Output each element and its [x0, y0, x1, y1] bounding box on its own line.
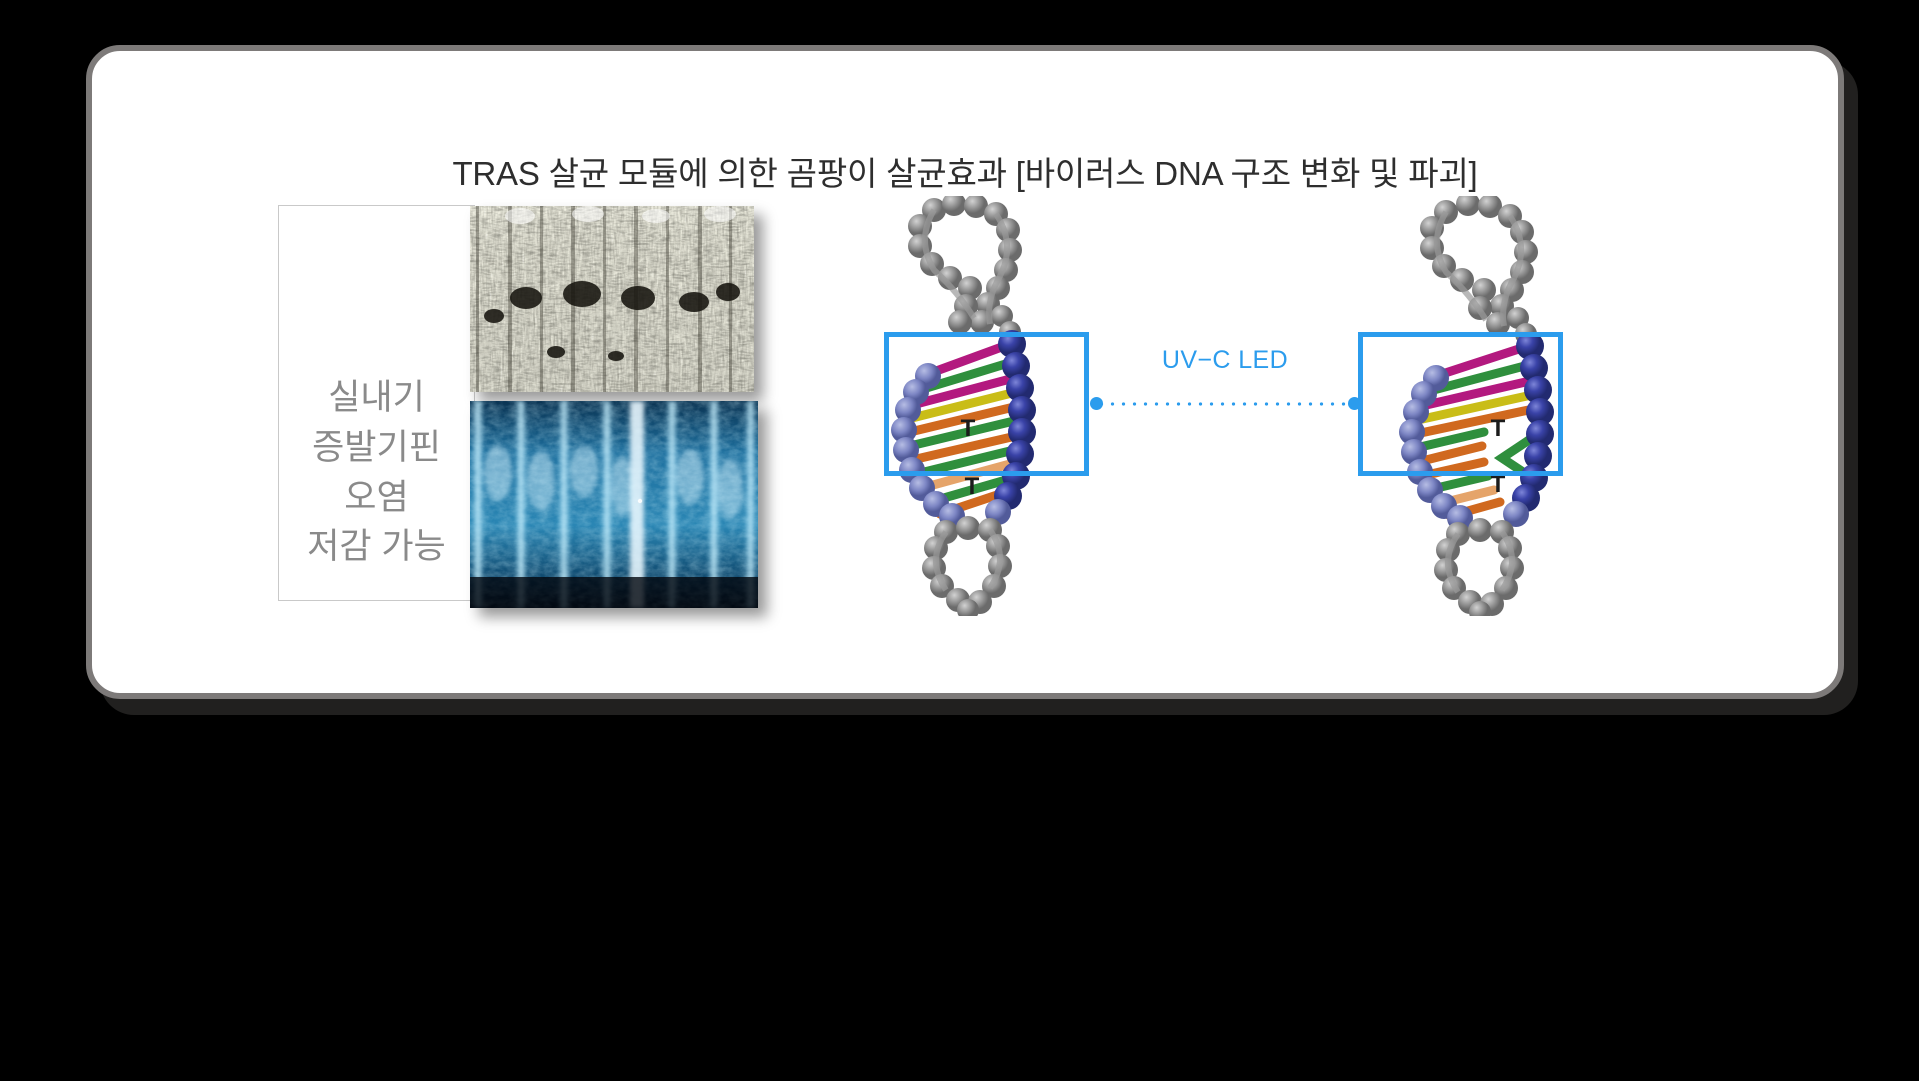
dna-normal: T T — [850, 196, 1090, 616]
uv-connector — [1090, 395, 1361, 413]
uv-connector-dot-right — [1348, 397, 1361, 410]
uv-treated-evaporator-fins-photo — [470, 401, 758, 608]
callout-box: 실내기 증발기핀 오염 저감 가능 — [278, 205, 475, 601]
callout-line-1: 실내기 — [328, 373, 425, 423]
uv-highlight-box-before — [884, 332, 1089, 476]
uv-connector-dotted-line — [1096, 402, 1355, 406]
callout-line-4: 저감 가능 — [307, 522, 446, 572]
dna-comparison-panel: T T — [792, 196, 1752, 616]
contaminated-evaporator-fins-photo — [470, 206, 754, 392]
mold-photo-graphic — [470, 206, 754, 392]
dna-backbone-bottom — [922, 516, 1012, 616]
dna-backbone-top — [908, 196, 1022, 343]
dna-damaged: T T — [1352, 196, 1592, 616]
page-title: TRAS 살균 모듈에 의한 곰팡이 살균효과 [바이러스 DNA 구조 변화 … — [92, 147, 1838, 195]
callout-line-2: 증발기핀 — [312, 423, 441, 473]
base-letter-T-2: T — [965, 473, 980, 500]
uv-connector-dot-left — [1090, 397, 1103, 410]
uv-c-led-label: UV−C LED — [1110, 346, 1340, 375]
uv-photo-graphic — [470, 401, 758, 608]
dna-backbone-top — [1420, 196, 1538, 345]
dna-backbone-bottom — [1434, 518, 1524, 616]
callout-line-3: 오염 — [344, 473, 408, 523]
uv-highlight-box-after — [1358, 332, 1563, 476]
slide-card: TRAS 살균 모듈에 의한 곰팡이 살균효과 [바이러스 DNA 구조 변화 … — [86, 45, 1844, 699]
